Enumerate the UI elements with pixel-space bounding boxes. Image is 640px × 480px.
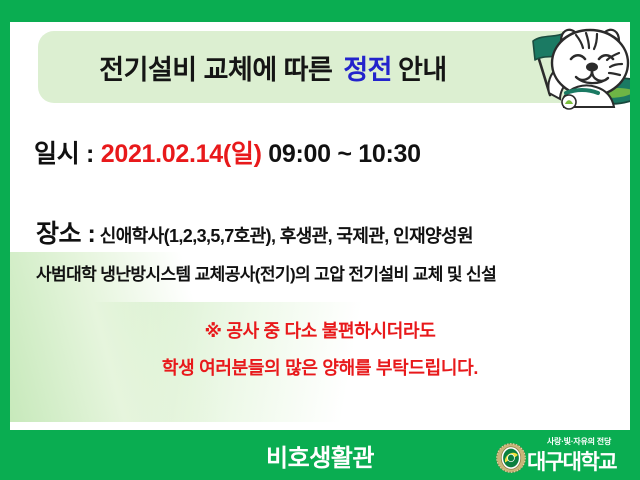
date-line: 일시 : 2021.02.14(일) 09:00 ~ 10:30 <box>34 134 421 170</box>
apology-notice: ※ 공사 중 다소 불편하시더라도 학생 여러분들의 많은 양해를 부탁드립니다… <box>10 317 630 380</box>
title-highlight: 정전 <box>343 48 392 87</box>
footer-bar: 비호생활관 사랑·빛·자유의 전당 대구대학교 <box>0 430 640 480</box>
university-seal-icon <box>496 443 526 473</box>
place-label: 장소 : <box>36 220 95 248</box>
logo-university-name: 대구대학교 <box>527 446 616 476</box>
work-detail-line: 사범대학 냉난방시스템 교체공사(전기)의 고압 전기설비 교체 및 신설 <box>36 260 496 285</box>
place-value: 신애학사(1,2,3,5,7호관), 후생관, 국제관, 인재양성원 <box>100 226 473 246</box>
page-title: 전기설비 교체에 따른 정전 안내 <box>38 31 508 103</box>
notice-line-2: 학생 여러분들의 많은 양해를 부탁드립니다. <box>10 354 630 380</box>
notice-line-1: ※ 공사 중 다소 불편하시더라도 <box>10 317 630 343</box>
title-part-two: 안내 <box>398 48 447 87</box>
white-tiger-mascot-icon <box>506 22 630 122</box>
university-logo: 사랑·빛·자유의 전당 대구대학교 <box>496 436 632 476</box>
time-value: 09:00 ~ 10:30 <box>268 140 420 168</box>
place-line: 장소 : 신애학사(1,2,3,5,7호관), 후생관, 국제관, 인재양성원 <box>36 214 473 250</box>
date-label: 일시 : <box>34 140 94 168</box>
title-part-one: 전기설비 교체에 따른 <box>99 48 332 87</box>
notice-poster: 전기설비 교체에 따른 정전 안내 <box>0 0 640 480</box>
date-value: 2021.02.14(일) <box>101 140 262 168</box>
poster-content-sheet: 전기설비 교체에 따른 정전 안내 <box>10 22 630 430</box>
